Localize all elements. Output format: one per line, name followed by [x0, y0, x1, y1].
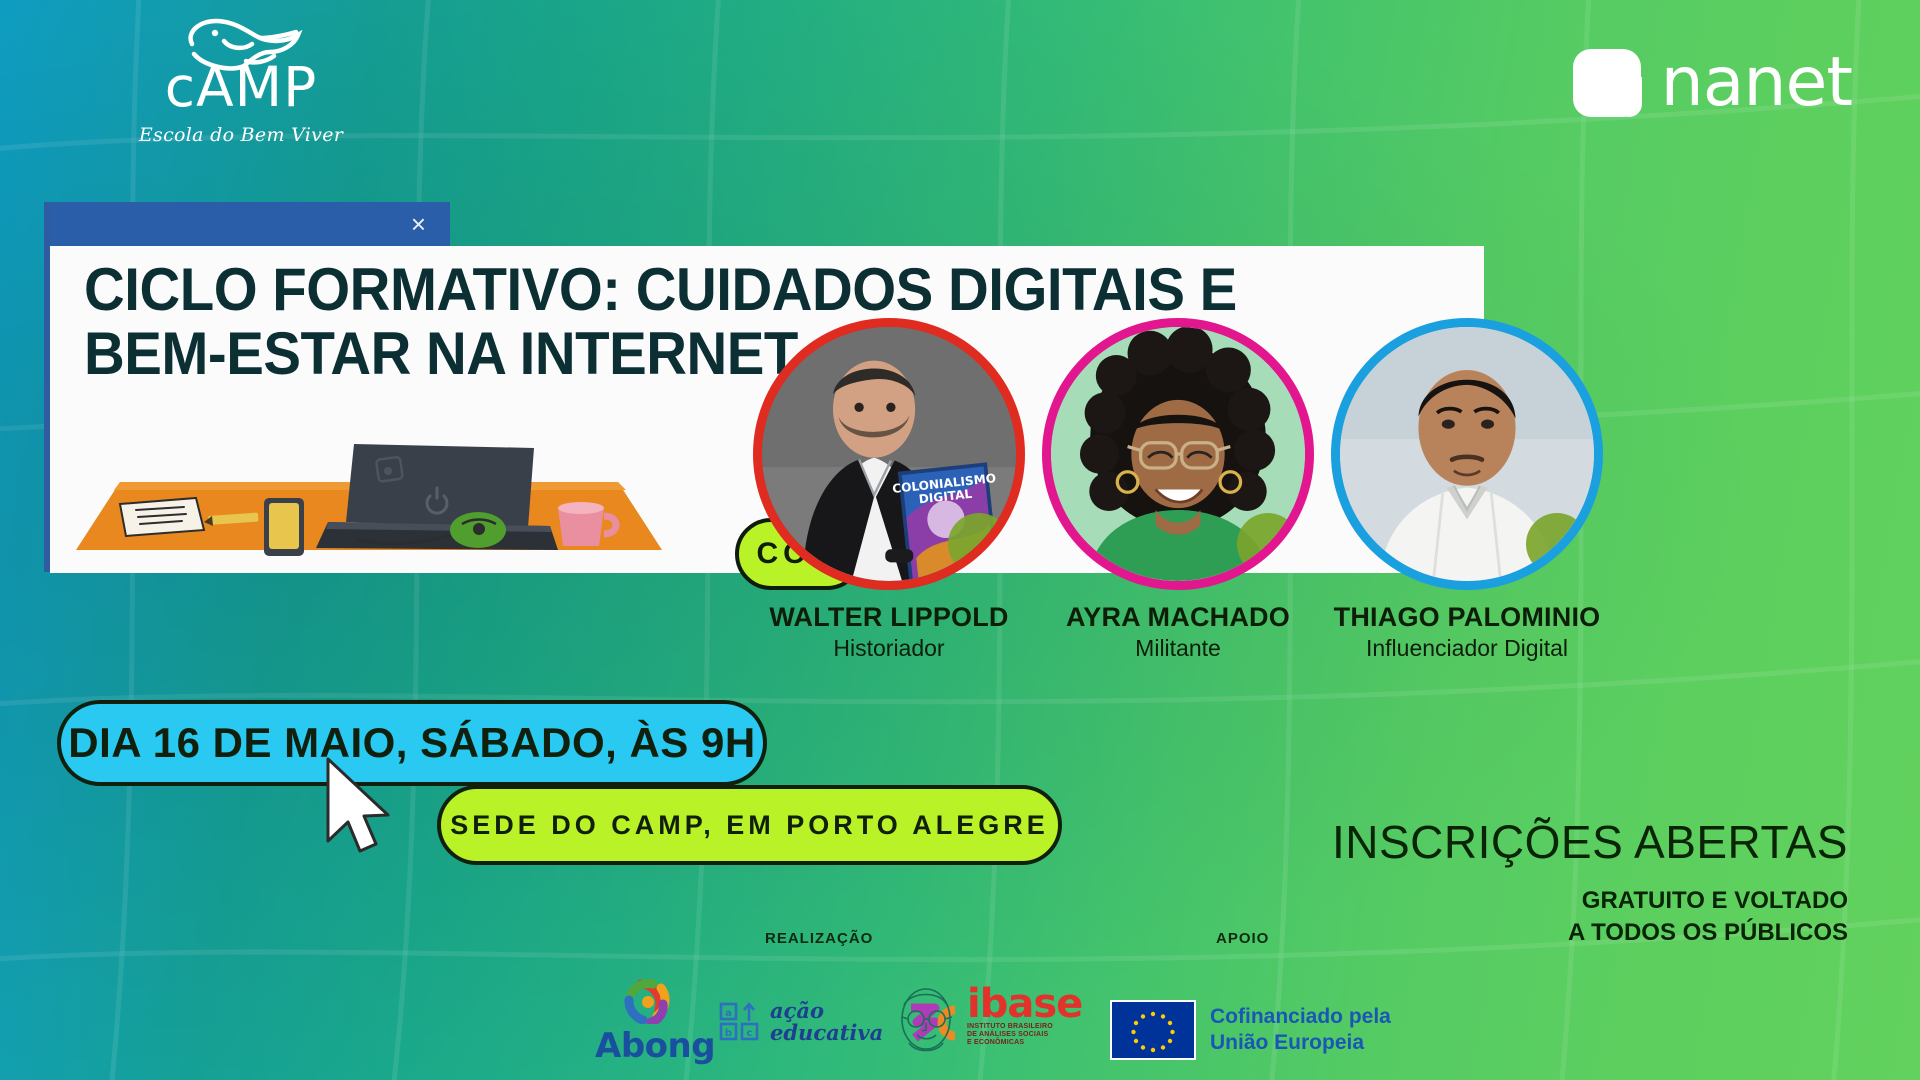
camp-wordmark: cAMP: [126, 60, 356, 115]
speaker-name: THIAGO PALOMINIO: [1331, 602, 1603, 633]
desk-laptop-illustration: [58, 430, 678, 575]
avatar: [1331, 318, 1603, 590]
nanet-logo: nanet: [1573, 45, 1852, 120]
apoio-label: APOIO: [1216, 930, 1269, 947]
ibase-face-icon: [895, 985, 957, 1057]
ibase-subline-3: E ECONÔMICAS: [967, 1039, 1082, 1047]
ibase-logo: ibase INSTITUTO BRASILEIRO DE ANÁLISES S…: [895, 985, 1082, 1057]
avatar: [1042, 318, 1314, 590]
camp-logo: cAMP Escola do Bem Viver: [126, 14, 356, 144]
registration-subline-2: A TODOS OS PÚBLICOS: [1568, 917, 1848, 949]
speaker-name: WALTER LIPPOLD: [753, 602, 1025, 633]
registration-subline-1: GRATUITO E VOLTADO: [1568, 885, 1848, 917]
speaker-card: THIAGO PALOMINIO Influenciador Digital: [1331, 318, 1603, 662]
speaker-role: Militante: [1042, 635, 1314, 662]
event-date-pill: DIA 16 DE MAIO, SÁBADO, ÀS 9H: [57, 700, 767, 786]
nanet-mark-icon: [1573, 49, 1641, 117]
speaker-card: AYRA MACHADO Militante: [1042, 318, 1314, 662]
avatar-badge-dot: [1237, 513, 1299, 575]
mouse-cursor-icon: [322, 755, 392, 855]
realizacao-label: REALIZAÇÃO: [765, 930, 873, 947]
svg-text:c: c: [747, 1028, 753, 1039]
nanet-wordmark: nanet: [1661, 49, 1852, 117]
avatar: COLONIALISMO DIGITAL: [753, 318, 1025, 590]
poster-root: cAMP Escola do Bem Viver nanet × CICLO F…: [0, 0, 1920, 1080]
svg-text:a: a: [725, 1008, 732, 1019]
speaker-name: AYRA MACHADO: [1042, 602, 1314, 633]
abong-logo: Abong: [595, 978, 715, 1066]
speaker-card: COLONIALISMO DIGITAL WALTER LIPPOLD Hist…: [753, 318, 1025, 662]
eu-line-2: União Europeia: [1210, 1030, 1391, 1056]
avatar-badge-dot: [1526, 513, 1588, 575]
european-union-support-logo: Cofinanciado pela União Europeia: [1110, 1000, 1391, 1060]
acao-line-1: ação: [770, 1000, 883, 1022]
avatar-badge-dot: [948, 513, 1010, 575]
event-place-pill: SEDE DO CAMP, EM PORTO ALEGRE: [437, 785, 1062, 865]
abong-wordmark: Abong: [595, 1026, 715, 1066]
camp-tagline: Escola do Bem Viver: [126, 124, 356, 146]
window-titlebar: ×: [50, 202, 450, 246]
acao-educativa-mark-icon: a b c: [718, 1001, 762, 1043]
svg-text:b: b: [725, 1028, 732, 1039]
acao-line-2: educativa: [770, 1022, 883, 1044]
close-icon[interactable]: ×: [50, 202, 450, 246]
eu-flag-icon: [1110, 1000, 1196, 1060]
abong-mark-icon: [617, 978, 701, 1024]
ibase-subline-2: DE ANÁLISES SOCIAIS: [967, 1031, 1082, 1039]
speaker-role: Historiador: [753, 635, 1025, 662]
registration-headline: INSCRIÇÕES ABERTAS: [1332, 815, 1848, 869]
speaker-role: Influenciador Digital: [1331, 635, 1603, 662]
registration-subtext: GRATUITO E VOLTADO A TODOS OS PÚBLICOS: [1568, 885, 1848, 948]
eu-line-1: Cofinanciado pela: [1210, 1004, 1391, 1030]
ibase-wordmark: ibase: [967, 985, 1082, 1023]
